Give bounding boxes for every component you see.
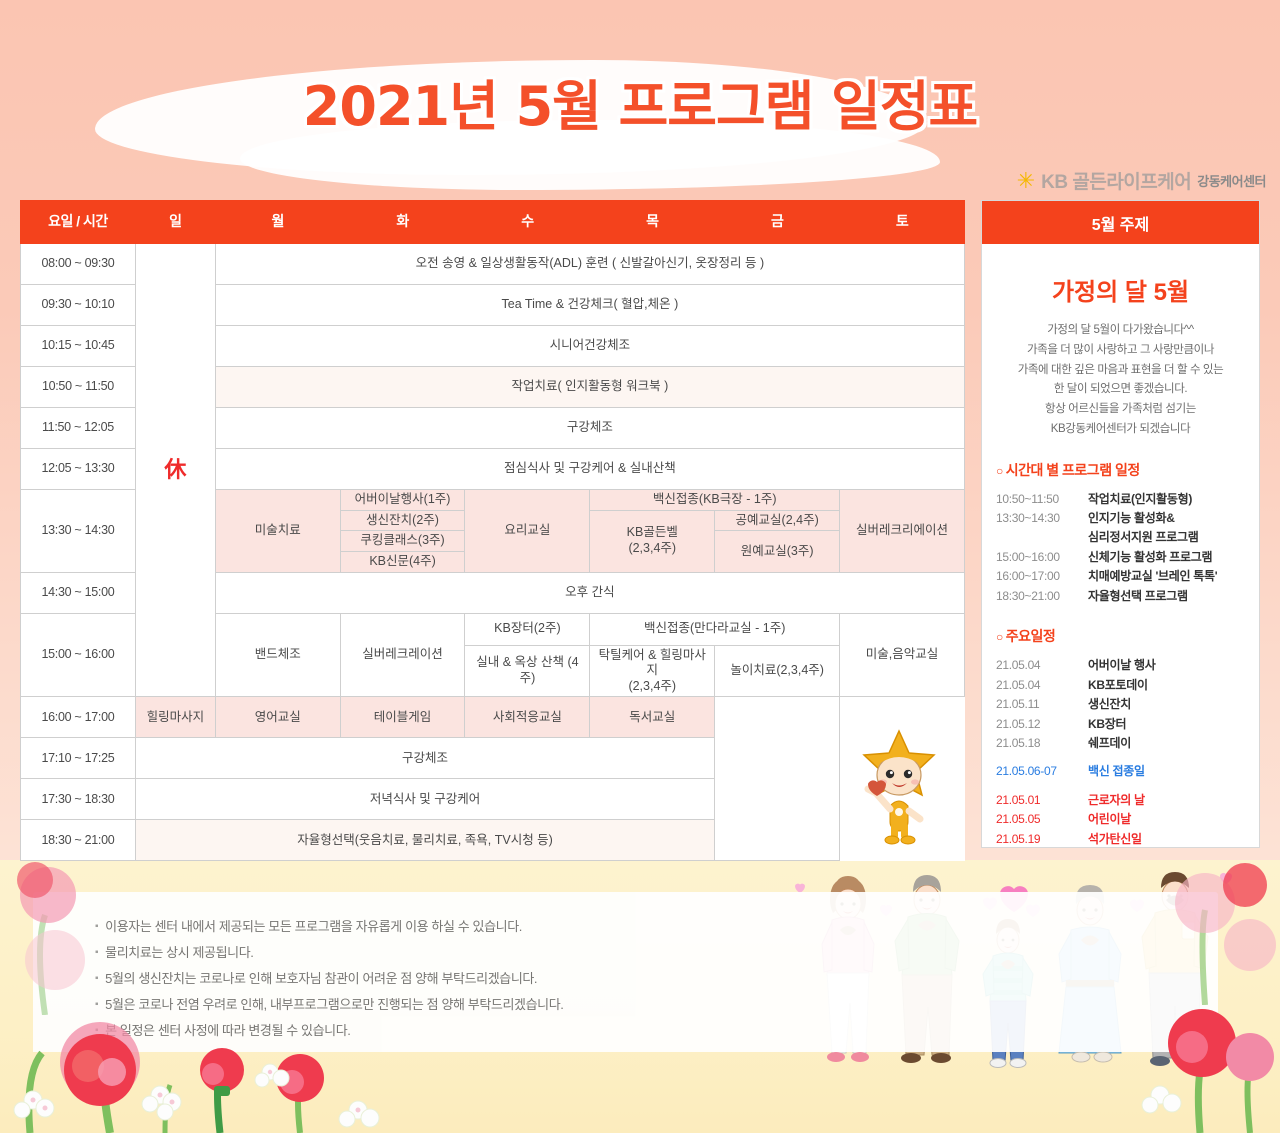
theme-line: 가족에 대한 깊은 마음과 표현을 더 할 수 있는 — [996, 361, 1245, 381]
col-header-mon: 월 — [215, 201, 340, 244]
program-cell-wed: 테이블게임 — [340, 697, 465, 738]
star-icon: ✳ — [1017, 170, 1035, 192]
item-date: 21.05.11 — [996, 695, 1088, 714]
theme-line: 항상 어르신들을 가족처럼 섬기는 — [996, 400, 1245, 420]
program-cell-mon: 밴드체조 — [215, 613, 340, 697]
theme-line: 가정의 달 5월이 다가왔습니다^^ — [996, 321, 1245, 341]
program-cell-tue-4: KB신문(4주) — [340, 551, 465, 572]
list-item: 21.05.19석가탄신일 — [996, 830, 1245, 849]
item-value: 어버이날 행사 — [1088, 656, 1155, 675]
item-time: 15:00~16:00 — [996, 548, 1088, 567]
item-value: 자율형선택 프로그램 — [1088, 587, 1188, 606]
row-time: 17:10 ~ 17:25 — [21, 738, 136, 779]
page-title: 2021년 5월 프로그램 일정표 — [0, 62, 1280, 141]
program-cell: 구강체조 — [215, 408, 964, 449]
program-cell-fri-bottom: 원예교실(3주) — [715, 531, 840, 572]
carnation-flowers-left — [0, 855, 120, 1015]
program-cell-fri: 독서교실 — [590, 697, 715, 738]
time-program-list: 10:50~11:50작업치료(인지활동형) 13:30~14:30인지기능 활… — [996, 490, 1245, 607]
program-cell: 점심식사 및 구강케어 & 실내산책 — [215, 449, 964, 490]
mascot-cell — [715, 697, 840, 861]
program-cell-wed-bottom: 실내 & 옥상 산책 (4주) — [465, 645, 590, 697]
section-heading-events: ○주요일정 — [996, 626, 1245, 646]
spacer — [996, 753, 1245, 762]
program-cell-wed-top: KB장터(2주) — [465, 613, 590, 645]
program-cell-fri-top: 공예교실(2,4주) — [715, 510, 840, 531]
list-item: 21.05.05어린이날 — [996, 810, 1245, 829]
list-item: 21.05.12KB장터 — [996, 715, 1245, 734]
item-value: 심리정서지원 프로그램 — [1088, 528, 1198, 547]
item-date: 21.05.06-07 — [996, 762, 1088, 781]
note-item: 5월의 생신잔치는 코로나로 인해 보호자님 참관이 어려운 점 양해 부탁드리… — [95, 966, 1218, 992]
theme-panel: 5월 주제 가정의 달 5월 가정의 달 5월이 다가왔습니다^^ 가족을 더 … — [981, 200, 1260, 848]
item-time: 18:30~21:00 — [996, 587, 1088, 606]
carnation-flowers-bottom-left — [0, 1000, 400, 1133]
program-cell: 시니어건강체조 — [215, 326, 964, 367]
panel-header: 5월 주제 — [982, 201, 1259, 244]
table-row: 08:00 ~ 09:30 休 오전 송영 & 일상생활동작(ADL) 훈련 (… — [21, 244, 965, 285]
program-cell-mon: 미술치료 — [215, 490, 340, 573]
item-date: 21.05.04 — [996, 656, 1088, 675]
item-time: 13:30~14:30 — [996, 509, 1088, 528]
item-value: 석가탄신일 — [1088, 830, 1142, 849]
col-header-daytime: 요일 / 시간 — [21, 201, 136, 244]
item-date: 21.05.01 — [996, 791, 1088, 810]
list-item: 18:30~21:00자율형선택 프로그램 — [996, 587, 1245, 606]
item-date: 21.05.12 — [996, 715, 1088, 734]
item-value: KB장터 — [1088, 715, 1126, 734]
item-value: 인지기능 활성화& — [1088, 509, 1175, 528]
program-cell: 자율형선택(웃음치료, 물리치료, 족욕, TV시청 등) — [135, 820, 714, 861]
program-cell-thu-top: 백신접종(만다라교실 - 1주) — [590, 613, 840, 645]
row-time: 15:00 ~ 16:00 — [21, 613, 136, 697]
sunday-closed-cell: 休 — [135, 244, 215, 697]
col-header-tue: 화 — [340, 201, 465, 244]
program-cell-tue-3: 쿠킹클래스(3주) — [340, 531, 465, 552]
program-cell-fri-bottom: 놀이치료(2,3,4주) — [715, 645, 840, 697]
program-cell-thu-bottom: 탁틸케어 & 힐링마사지 (2,3,4주) — [590, 645, 715, 697]
logo-brand: KB 골든라이프케어 — [1041, 167, 1191, 194]
kb-mascot-icon — [852, 727, 947, 847]
item-value: 백신 접종일 — [1088, 762, 1145, 781]
program-cell: 오후 간식 — [215, 572, 964, 613]
row-time: 14:30 ~ 15:00 — [21, 572, 136, 613]
col-header-fri: 금 — [715, 201, 840, 244]
section-heading-schedule: ○시간대 별 프로그램 일정 — [996, 460, 1245, 480]
program-cell-sat: 미술,음악교실 — [840, 613, 965, 697]
row-time: 09:30 ~ 10:10 — [21, 285, 136, 326]
program-cell-thu: 사회적응교실 — [465, 697, 590, 738]
list-item: 21.05.11생신잔치 — [996, 695, 1245, 714]
table-header-row: 요일 / 시간 일 월 화 수 목 금 토 — [21, 201, 965, 244]
list-item: 15:00~16:00신체기능 활성화 프로그램 — [996, 548, 1245, 567]
program-cell-tue: 영어교실 — [215, 697, 340, 738]
program-cell-tue-2: 생신잔치(2주) — [340, 510, 465, 531]
row-time: 10:50 ~ 11:50 — [21, 367, 136, 408]
item-value: 신체기능 활성화 프로그램 — [1088, 548, 1212, 567]
item-value: 쉐프데이 — [1088, 734, 1131, 753]
list-item: 16:00~17:00치매예방교실 '브레인 톡톡' — [996, 567, 1245, 586]
theme-title: 가정의 달 5월 — [996, 272, 1245, 307]
list-item: 21.05.06-07백신 접종일 — [996, 762, 1245, 781]
program-cell: Tea Time & 건강체크( 혈압,체온 ) — [215, 285, 964, 326]
row-time: 16:00 ~ 17:00 — [21, 697, 136, 738]
item-value: 작업치료(인지활동형) — [1088, 490, 1192, 509]
list-item: 21.05.04KB포토데이 — [996, 676, 1245, 695]
item-value: 치매예방교실 '브레인 톡톡' — [1088, 567, 1217, 586]
section-heading-label: 주요일정 — [1006, 628, 1056, 644]
row-time: 10:15 ~ 10:45 — [21, 326, 136, 367]
carnation-flowers-bottom-right — [1140, 985, 1280, 1133]
program-cell: 구강체조 — [135, 738, 714, 779]
carnation-flowers-right — [1150, 855, 1280, 1005]
theme-line: KB강동케어센터가 되겠습니다 — [996, 420, 1245, 440]
logo-center-name: 강동케어센터 — [1197, 171, 1266, 190]
item-value: 어린이날 — [1088, 810, 1131, 829]
row-time: 11:50 ~ 12:05 — [21, 408, 136, 449]
col-header-wed: 수 — [465, 201, 590, 244]
section-heading-label: 시간대 별 프로그램 일정 — [1006, 462, 1140, 478]
item-date: 21.05.04 — [996, 676, 1088, 695]
item-value: 생신잔치 — [1088, 695, 1131, 714]
item-date: 21.05.18 — [996, 734, 1088, 753]
circle-bullet-icon: ○ — [996, 464, 1003, 478]
theme-line: 가족을 더 많이 사랑하고 그 사랑만큼이나 — [996, 341, 1245, 361]
theme-description: 가정의 달 5월이 다가왔습니다^^ 가족을 더 많이 사랑하고 그 사랑만큼이… — [996, 321, 1245, 440]
note-item: 물리치료는 상시 제공됩니다. — [95, 940, 1218, 966]
row-time: 08:00 ~ 09:30 — [21, 244, 136, 285]
kb-logo: ✳ KB 골든라이프케어 강동케어센터 — [1017, 167, 1266, 194]
list-item: —심리정서지원 프로그램 — [996, 528, 1245, 547]
program-cell-sat: 실버레크리에이션 — [840, 490, 965, 573]
program-cell-tue-1: 어버이날행사(1주) — [340, 490, 465, 511]
program-cell-thu-left: KB골든벨 (2,3,4주) — [590, 510, 715, 572]
list-item: 21.05.18쉐프데이 — [996, 734, 1245, 753]
col-header-thu: 목 — [590, 201, 715, 244]
list-item: 21.05.04어버이날 행사 — [996, 656, 1245, 675]
item-value: 근로자의 날 — [1088, 791, 1145, 810]
circle-bullet-icon: ○ — [996, 630, 1003, 644]
table-row: 16:00 ~ 17:00 힐링마사지 영어교실 테이블게임 사회적응교실 독서… — [21, 697, 965, 738]
theme-line: 한 달이 되었으면 좋겠습니다. — [996, 380, 1245, 400]
row-time: 13:30 ~ 14:30 — [21, 490, 136, 573]
program-cell: 오전 송영 & 일상생활동작(ADL) 훈련 ( 신발갈아신기, 옷장정리 등 … — [215, 244, 964, 285]
row-time: 12:05 ~ 13:30 — [21, 449, 136, 490]
spacer — [996, 782, 1245, 791]
program-cell-mon: 힐링마사지 — [135, 697, 215, 738]
schedule-table: 요일 / 시간 일 월 화 수 목 금 토 08:00 ~ 09:30 休 오전… — [20, 200, 965, 861]
program-cell: 작업치료( 인지활동형 워크북 ) — [215, 367, 964, 408]
program-cell-wed: 요리교실 — [465, 490, 590, 573]
col-header-sat: 토 — [840, 201, 965, 244]
item-time: 16:00~17:00 — [996, 567, 1088, 586]
item-time: 10:50~11:50 — [996, 490, 1088, 509]
row-time: 17:30 ~ 18:30 — [21, 779, 136, 820]
list-item: 13:30~14:30인지기능 활성화& — [996, 509, 1245, 528]
program-cell: 저녁식사 및 구강케어 — [135, 779, 714, 820]
item-date: 21.05.05 — [996, 810, 1088, 829]
program-cell-thu-top: 백신접종(KB극장 - 1주) — [590, 490, 840, 511]
note-item: 이용자는 센터 내에서 제공되는 모든 프로그램을 자유롭게 이용 하실 수 있… — [95, 914, 1218, 940]
list-item: 21.05.01근로자의 날 — [996, 791, 1245, 810]
program-cell-tue: 실버레크레이션 — [340, 613, 465, 697]
item-date: 21.05.19 — [996, 830, 1088, 849]
col-header-sun: 일 — [135, 201, 215, 244]
item-value: KB포토데이 — [1088, 676, 1148, 695]
major-events-list: 21.05.04어버이날 행사 21.05.04KB포토데이 21.05.11생… — [996, 656, 1245, 849]
list-item: 10:50~11:50작업치료(인지활동형) — [996, 490, 1245, 509]
